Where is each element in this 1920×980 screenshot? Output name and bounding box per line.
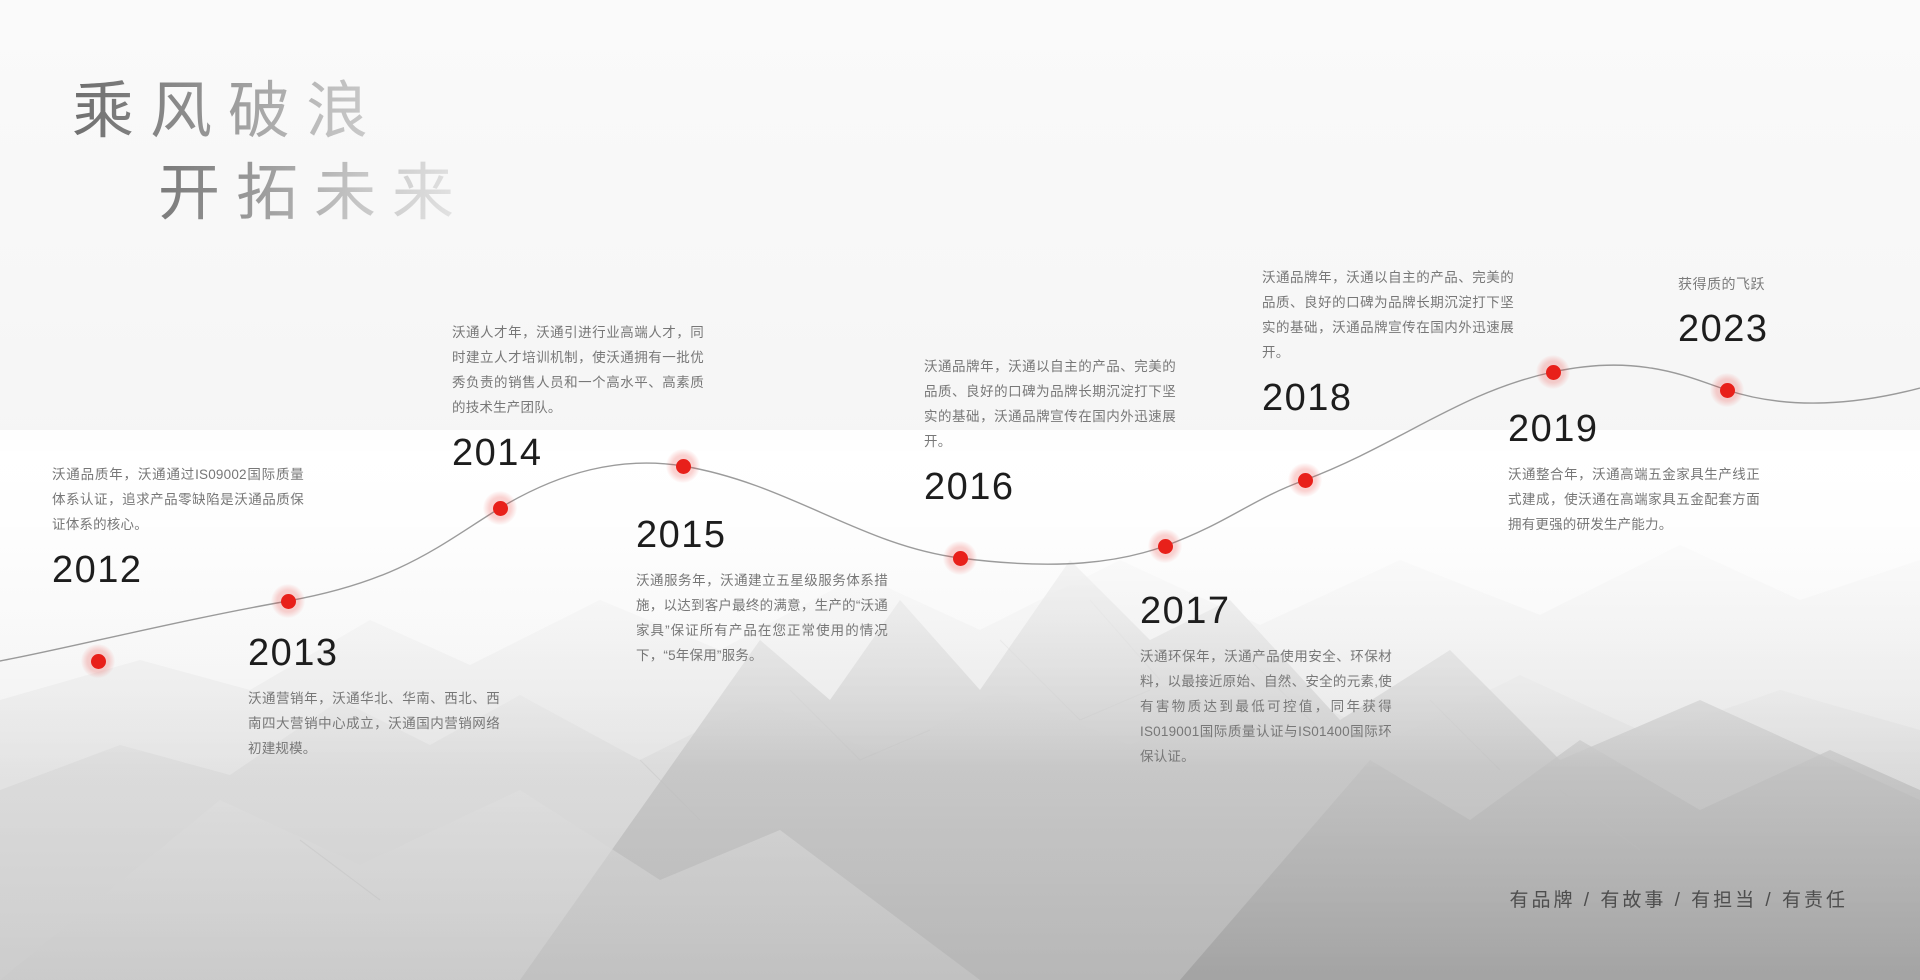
milestone-year-2023: 2023: [1678, 310, 1858, 348]
milestone-entry-2013[interactable]: 2013 沃通营销年，沃通华北、华南、西北、西南四大营销中心成立，沃通国内营销网…: [248, 634, 500, 761]
footer-slogan: 有品牌 / 有故事 / 有担当 / 有责任: [1509, 885, 1848, 912]
milestone-desc-2016: 沃通品牌年，沃通以自主的产品、完美的品质、良好的口碑为品牌长期沉淀打下坚实的基础…: [924, 354, 1176, 454]
milestone-year-2013: 2013: [248, 634, 500, 672]
headline-line-1: 乘风破浪: [72, 72, 470, 154]
milestone-year-2012: 2012: [52, 551, 304, 589]
milestone-node-2012[interactable]: [81, 644, 115, 678]
rock-texture-lines: [300, 600, 1640, 900]
milestone-node-2014[interactable]: [483, 491, 517, 525]
headline-line-2: 开拓未来: [158, 154, 470, 236]
milestone-year-2014: 2014: [452, 434, 704, 472]
milestone-entry-2019[interactable]: 2019 沃通整合年，沃通高端五金家具生产线正式建成，使沃通在高端家具五金配套方…: [1508, 410, 1760, 537]
milestone-entry-2014[interactable]: 2014 沃通人才年，沃通引进行业高端人才，同时建立人才培训机制，使沃通拥有一批…: [452, 320, 704, 472]
milestone-entry-2017[interactable]: 2017 沃通环保年，沃通产品使用安全、环保材料，以最接近原始、自然、安全的元素…: [1140, 592, 1392, 769]
milestone-desc-2018: 沃通品牌年，沃通以自主的产品、完美的品质、良好的口碑为品牌长期沉淀打下坚实的基础…: [1262, 265, 1514, 365]
milestone-entry-2012[interactable]: 2012 沃通品质年，沃通通过IS09002国际质量体系认证，追求产品零缺陷是沃…: [52, 462, 304, 589]
headline: 乘风破浪 开拓未来: [72, 72, 470, 236]
milestone-node-2016[interactable]: [943, 541, 977, 575]
milestone-desc-2012: 沃通品质年，沃通通过IS09002国际质量体系认证，追求产品零缺陷是沃通品质保证…: [52, 462, 304, 537]
milestone-node-2017[interactable]: [1148, 529, 1182, 563]
ridge-near-right: [1180, 740, 1920, 980]
timeline-poster: 乘风破浪 开拓未来 2012 沃通品质年，沃通通过IS09002国际质量体系认证…: [0, 0, 1920, 980]
milestone-year-2018: 2018: [1262, 379, 1514, 417]
milestone-caption-2023: 获得质的飞跃: [1678, 274, 1858, 294]
milestone-desc-2017: 沃通环保年，沃通产品使用安全、环保材料，以最接近原始、自然、安全的元素,使有害物…: [1140, 644, 1392, 769]
milestone-entry-2018[interactable]: 2018 沃通品牌年，沃通以自主的产品、完美的品质、良好的口碑为品牌长期沉淀打下…: [1262, 265, 1514, 417]
milestone-desc-2013: 沃通营销年，沃通华北、华南、西北、西南四大营销中心成立，沃通国内营销网络初建规模…: [248, 686, 500, 761]
milestone-entry-2023[interactable]: 获得质的飞跃 2023: [1678, 274, 1858, 348]
milestone-year-2019: 2019: [1508, 410, 1760, 448]
milestone-node-2019[interactable]: [1536, 355, 1570, 389]
milestone-entry-2015[interactable]: 2015 沃通服务年，沃通建立五星级服务体系措施，以达到客户最终的满意，生产的“…: [636, 516, 888, 668]
milestone-year-2016: 2016: [924, 468, 1176, 506]
ridge-near-left: [0, 790, 980, 980]
milestone-entry-2016[interactable]: 2016 沃通品牌年，沃通以自主的产品、完美的品质、良好的口碑为品牌长期沉淀打下…: [924, 354, 1176, 506]
milestone-node-2018[interactable]: [1288, 463, 1322, 497]
milestone-desc-2019: 沃通整合年，沃通高端五金家具生产线正式建成，使沃通在高端家具五金配套方面拥有更强…: [1508, 462, 1760, 537]
milestone-year-2015: 2015: [636, 516, 888, 554]
milestone-desc-2014: 沃通人才年，沃通引进行业高端人才，同时建立人才培训机制，使沃通拥有一批优秀负责的…: [452, 320, 704, 420]
milestone-node-2013[interactable]: [271, 584, 305, 618]
milestone-node-2023[interactable]: [1710, 373, 1744, 407]
milestone-year-2017: 2017: [1140, 592, 1392, 630]
milestone-desc-2015: 沃通服务年，沃通建立五星级服务体系措施，以达到客户最终的满意，生产的“沃通家具”…: [636, 568, 888, 668]
